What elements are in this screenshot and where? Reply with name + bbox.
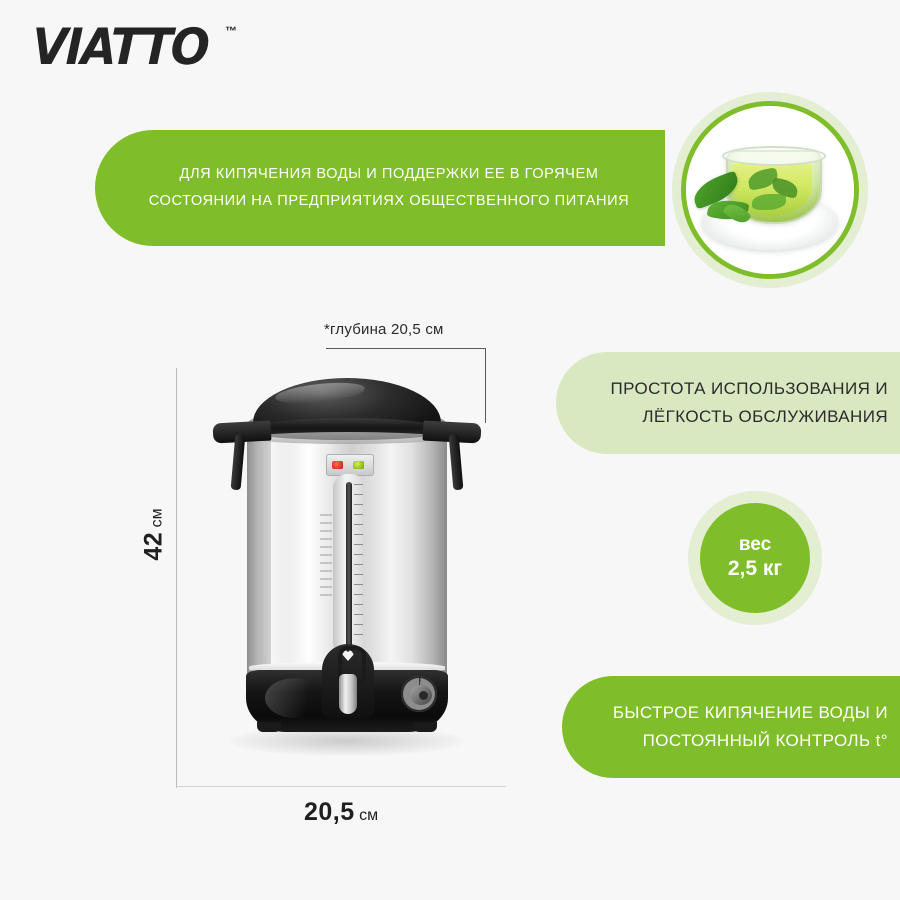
- headline-banner: ДЛЯ КИПЯЧЕНИЯ ВОДЫ И ПОДДЕРЖКИ ЕЕ В ГОРЯ…: [95, 130, 665, 246]
- temperature-knob-center: [419, 691, 428, 700]
- height-unit: см: [149, 508, 166, 527]
- boiler-collar-ring: [249, 432, 445, 444]
- heating-indicator-light-icon: [353, 461, 364, 469]
- feature-panel-fast-boiling: БЫСТРОЕ КИПЯЧЕНИЕ ВОДЫ И ПОСТОЯННЫЙ КОНТ…: [562, 676, 900, 778]
- weight-badge: вес 2,5 кг: [700, 503, 810, 613]
- feature-line-2: ПОСТОЯННЫЙ КОНТРОЛЬ t°: [613, 727, 888, 755]
- weight-badge-label: вес: [739, 534, 771, 556]
- height-dimension-line: [176, 368, 177, 788]
- width-dimension-line: [176, 786, 506, 787]
- water-level-gauge-scale-text: [320, 514, 332, 602]
- feature-line-1: ПРОСТОТА ИСПОЛЬЗОВАНИЯ И: [611, 375, 888, 403]
- headline-line-1: ДЛЯ КИПЯЧЕНИЯ ВОДЫ И ПОДДЕРЖКИ ЕЕ В ГОРЯ…: [149, 161, 629, 188]
- feature-panel-fast-boiling-text: БЫСТРОЕ КИПЯЧЕНИЕ ВОДЫ И ПОСТОЯННЫЙ КОНТ…: [613, 699, 888, 755]
- infographic-page: VIATTO ™ ДЛЯ КИПЯЧЕНИЯ ВОДЫ И ПОДДЕРЖКИ …: [0, 0, 900, 900]
- feature-line-2: ЛЁГКОСТЬ ОБСЛУЖИВАНИЯ: [611, 403, 888, 431]
- water-level-gauge-ticks: [354, 484, 365, 644]
- headline-line-2: СОСТОЯНИИ НА ПРЕДПРИЯТИЯХ ОБЩЕСТВЕННОГО …: [149, 188, 629, 215]
- brand-logo: VIATTO ™: [33, 22, 237, 72]
- depth-label: *глубина 20,5 см: [324, 321, 444, 338]
- water-level-gauge-tube: [346, 482, 352, 650]
- feature-panel-ease-of-use: ПРОСТОТА ИСПОЛЬЗОВАНИЯ И ЛЁГКОСТЬ ОБСЛУЖ…: [556, 352, 900, 454]
- height-label: 42 см: [140, 505, 169, 565]
- boiler-foot-right: [413, 722, 437, 732]
- boiler-foot-left: [257, 722, 281, 732]
- tap-spout: [339, 674, 357, 714]
- cup-rim-shape: [722, 146, 826, 166]
- depth-dimension-tick: [485, 348, 486, 423]
- product-image-water-boiler: [213, 374, 481, 766]
- height-value: 42: [140, 532, 168, 561]
- trademark-symbol: ™: [225, 25, 237, 37]
- boiler-base-highlight: [265, 678, 325, 718]
- weight-badge-value: 2,5 кг: [728, 557, 782, 582]
- width-label: 20,5 см: [176, 798, 506, 827]
- feature-line-1: БЫСТРОЕ КИПЯЧЕНИЕ ВОДЫ И: [613, 699, 888, 727]
- headline-banner-text: ДЛЯ КИПЯЧЕНИЯ ВОДЫ И ПОДДЕРЖКИ ЕЕ В ГОРЯ…: [149, 161, 629, 215]
- brand-name: VIATTO: [31, 22, 208, 72]
- tea-cup-photo: [681, 101, 859, 279]
- feature-panel-ease-of-use-text: ПРОСТОТА ИСПОЛЬЗОВАНИЯ И ЛЁГКОСТЬ ОБСЛУЖ…: [611, 375, 888, 431]
- tea-photo-canvas: [686, 106, 854, 274]
- depth-dimension-line: [326, 348, 486, 349]
- width-value: 20,5: [304, 798, 355, 826]
- width-unit: см: [359, 807, 378, 824]
- power-indicator-light-icon: [332, 461, 343, 469]
